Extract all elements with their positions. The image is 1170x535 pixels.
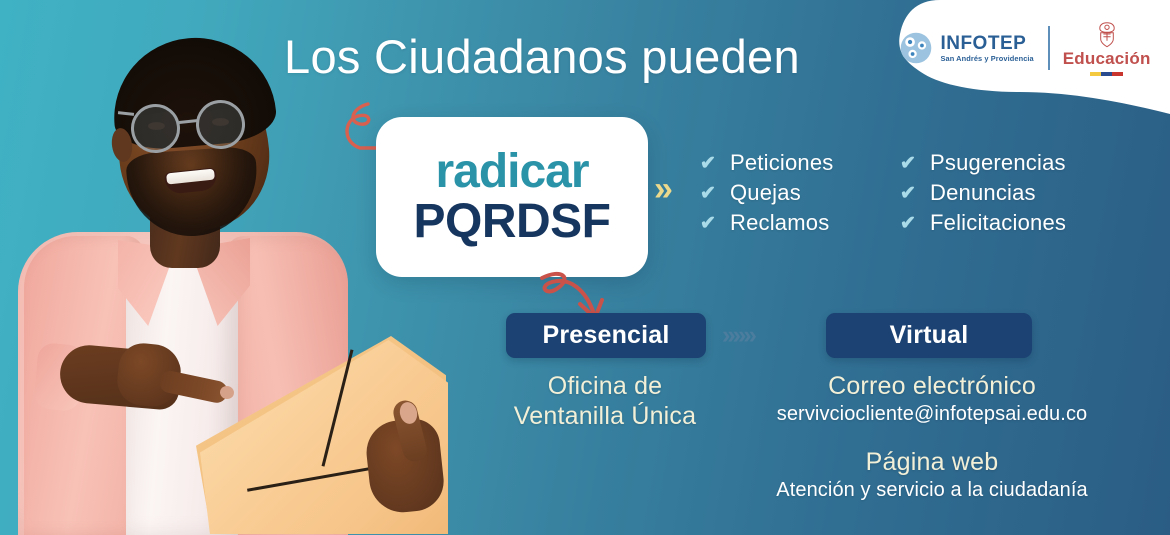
card-line-pqrdsf: PQRDSF bbox=[413, 198, 610, 246]
email-address[interactable]: servivciocliente@infotepsai.edu.co bbox=[742, 402, 1122, 426]
virtual-web-details: Página web Atención y servicio a la ciud… bbox=[742, 448, 1122, 502]
virtual-label: Virtual bbox=[890, 321, 969, 350]
logo-header-panel: INFOTEP San Andrés y Providencia Educaci… bbox=[880, 0, 1170, 115]
checklist-label: Denuncias bbox=[930, 180, 1036, 206]
list-item: ✔ Peticiones bbox=[700, 148, 834, 178]
virtual-pill[interactable]: Virtual bbox=[826, 313, 1032, 358]
presencial-pill[interactable]: Presencial bbox=[506, 313, 706, 358]
check-icon: ✔ bbox=[700, 154, 716, 173]
web-subtitle[interactable]: Atención y servicio a la ciudadanía bbox=[742, 478, 1122, 502]
beard bbox=[125, 146, 261, 241]
checklist-column-1: ✔ Peticiones ✔ Quejas ✔ Reclamos bbox=[700, 148, 834, 238]
list-item: ✔ Psugerencias bbox=[900, 148, 1066, 178]
list-item: ✔ Denuncias bbox=[900, 178, 1066, 208]
educacion-logo: Educación bbox=[1063, 21, 1151, 76]
chevron-trail-icon: ›››››› bbox=[722, 323, 754, 348]
check-icon: ✔ bbox=[900, 214, 916, 233]
checklist-label: Reclamos bbox=[730, 210, 829, 236]
double-chevron-icon: » bbox=[654, 172, 668, 206]
list-item: ✔ Reclamos bbox=[700, 208, 834, 238]
email-title: Correo electrónico bbox=[742, 372, 1122, 402]
check-icon: ✔ bbox=[900, 154, 916, 173]
infotep-name: INFOTEP bbox=[940, 34, 1033, 53]
presencial-title-line1: Oficina de bbox=[490, 372, 720, 402]
pqrdsf-banner: INFOTEP San Andrés y Providencia Educaci… bbox=[0, 0, 1170, 535]
checklist-label: Felicitaciones bbox=[930, 210, 1066, 236]
logo-divider bbox=[1048, 26, 1050, 70]
virtual-email-details: Correo electrónico servivciocliente@info… bbox=[742, 372, 1122, 426]
infotep-logo: INFOTEP San Andrés y Providencia bbox=[899, 31, 1047, 65]
colombia-coat-of-arms-icon bbox=[1095, 21, 1119, 48]
list-item: ✔ Felicitaciones bbox=[900, 208, 1066, 238]
presencial-details: Oficina de Ventanilla Única bbox=[490, 372, 720, 431]
checklist-label: Peticiones bbox=[730, 150, 834, 176]
presencial-title-line2: Ventanilla Única bbox=[490, 402, 720, 432]
checklist-column-2: ✔ Psugerencias ✔ Denuncias ✔ Felicitacio… bbox=[900, 148, 1066, 238]
colombia-flag-icon bbox=[1090, 72, 1123, 76]
presencial-label: Presencial bbox=[542, 321, 669, 350]
check-icon: ✔ bbox=[700, 214, 716, 233]
checklist-label: Psugerencias bbox=[930, 150, 1066, 176]
globe-gears-icon bbox=[899, 31, 933, 65]
check-icon: ✔ bbox=[700, 184, 716, 203]
educacion-label: Educación bbox=[1063, 49, 1151, 69]
card-line-radicar: radicar bbox=[435, 148, 588, 196]
web-title: Página web bbox=[742, 448, 1122, 478]
check-icon: ✔ bbox=[900, 184, 916, 203]
teeth bbox=[166, 169, 215, 185]
radicar-pqrdsf-card[interactable]: radicar PQRDSF bbox=[376, 117, 648, 277]
infotep-subtitle: San Andrés y Providencia bbox=[940, 55, 1033, 62]
page-title: Los Ciudadanos pueden bbox=[284, 32, 884, 83]
checklist-label: Quejas bbox=[730, 180, 801, 206]
list-item: ✔ Quejas bbox=[700, 178, 834, 208]
